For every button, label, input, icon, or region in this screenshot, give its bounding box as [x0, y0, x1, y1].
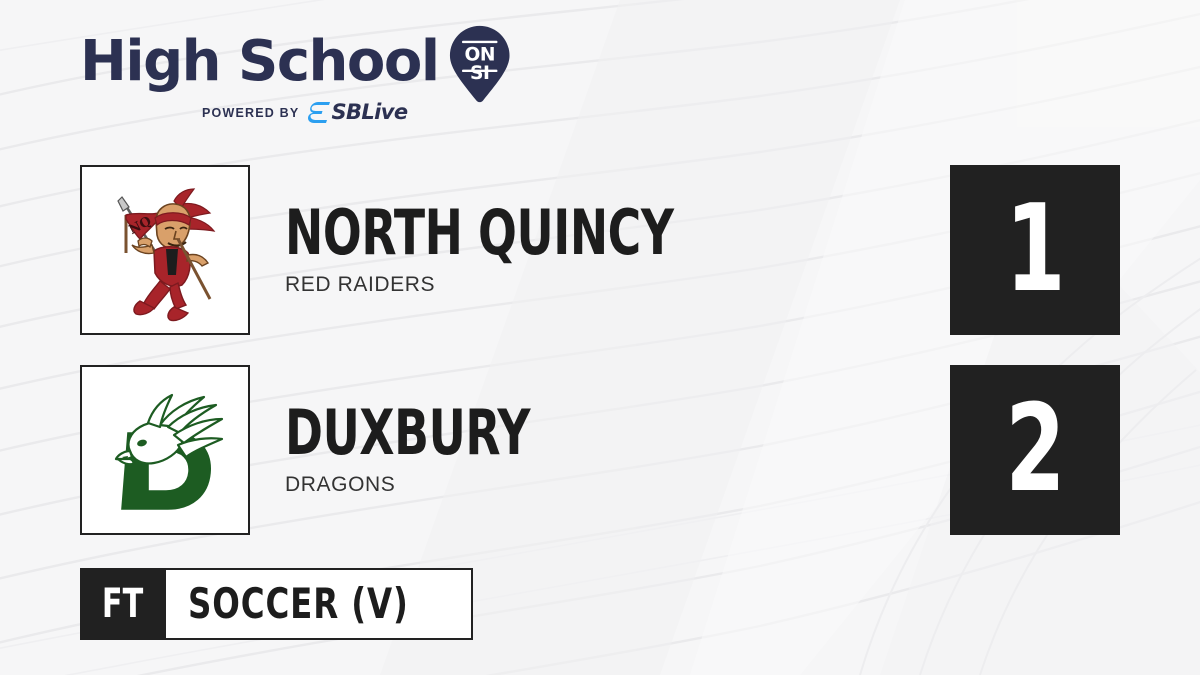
score-value: 2: [1006, 390, 1065, 510]
status-badge: FT: [80, 568, 166, 640]
sport-label-box: SOCCER (V): [166, 568, 473, 640]
sblive-logo: SBLive: [308, 102, 407, 123]
brand-header: High School ON SI POWERED BY SBLive: [80, 28, 510, 128]
team-text-block: NORTH QUINCY RED RAIDERS: [285, 165, 759, 335]
team-name: NORTH QUINCY: [285, 203, 674, 263]
score-box-north-quincy: 1: [950, 165, 1120, 335]
team-mascot: DRAGONS: [285, 473, 395, 497]
team-logo-north-quincy: NQ: [80, 165, 250, 335]
svg-text:SI: SI: [470, 63, 489, 84]
sport-label: SOCCER (V): [188, 583, 409, 625]
status-state-label: FT: [102, 584, 143, 624]
brand-wordmark-row: High School ON SI: [80, 28, 510, 96]
red-raider-mascot-icon: NQ: [82, 167, 248, 333]
on-si-pin-icon: ON SI: [449, 22, 510, 106]
dragon-d-icon: [82, 367, 248, 533]
team-name: DUXBURY: [285, 403, 530, 463]
score-box-duxbury: 2: [950, 365, 1120, 535]
sblive-wordmark: SBLive: [331, 102, 407, 123]
powered-by-row: POWERED BY SBLive: [80, 102, 510, 123]
status-bar: FT SOCCER (V): [80, 568, 473, 640]
team-logo-duxbury: [80, 365, 250, 535]
team-text-block: DUXBURY DRAGONS: [285, 365, 584, 535]
team-mascot: RED RAIDERS: [285, 273, 435, 297]
score-value: 1: [1006, 190, 1065, 310]
sblive-s-icon: [308, 102, 330, 123]
page-title: High School: [80, 32, 439, 92]
powered-by-label: POWERED BY: [202, 106, 299, 120]
